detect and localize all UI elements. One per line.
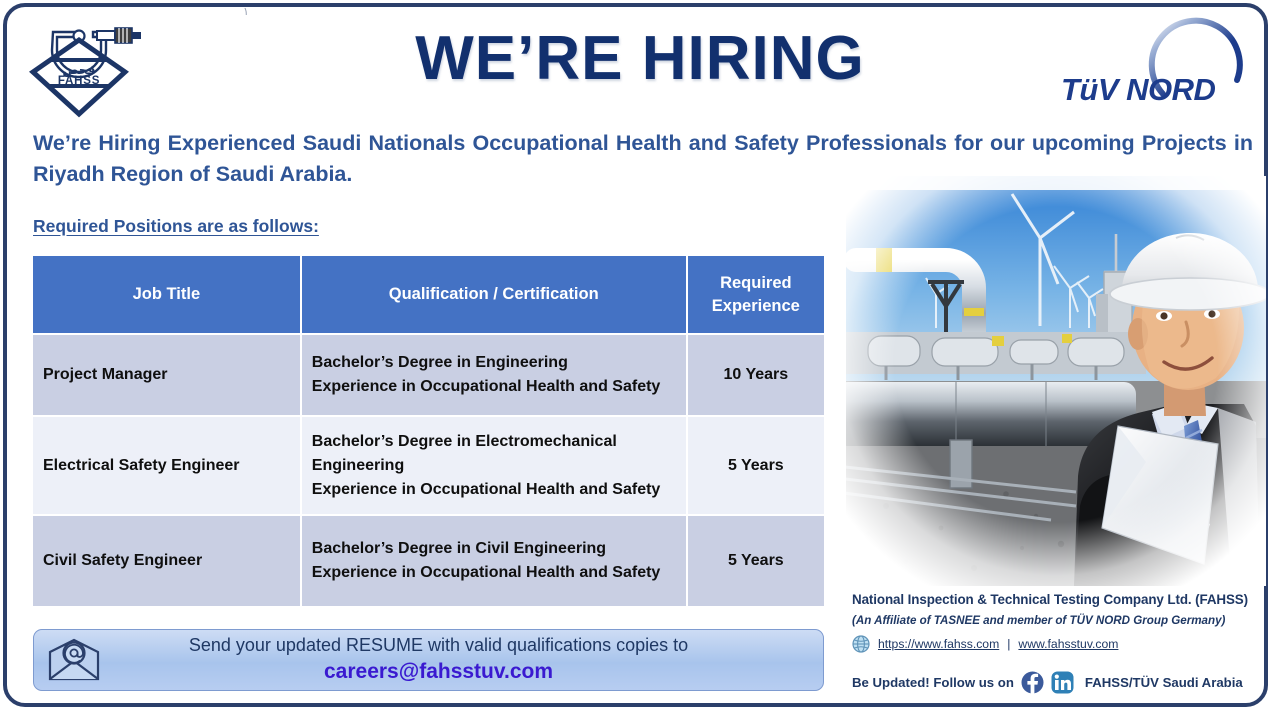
- company-affiliate: (An Affiliate of TASNEE and member of TÜ…: [852, 614, 1264, 627]
- resume-submission-banner[interactable]: Send your updated RESUME with valid qual…: [33, 629, 824, 691]
- company-name: National Inspection & Technical Testing …: [852, 592, 1264, 607]
- link-separator: |: [1007, 637, 1010, 651]
- engineer-industrial-photo: [846, 176, 1266, 586]
- linkedin-icon[interactable]: [1051, 671, 1074, 694]
- qualification-line: Bachelor’s Degree in Civil Engineering: [312, 537, 676, 561]
- envelope-at-icon: [46, 638, 102, 682]
- cell-experience: 10 Years: [688, 335, 824, 415]
- header-job-title: Job Title: [33, 256, 300, 333]
- cell-experience: 5 Years: [688, 417, 824, 514]
- website-link-secondary[interactable]: www.fahsstuv.com: [1018, 637, 1118, 651]
- table-row: Civil Safety Engineer Bachelor’s Degree …: [33, 516, 824, 606]
- qualification-line: Bachelor’s Degree in Electromechanical: [312, 430, 676, 454]
- careers-email-link[interactable]: careers@fahsstuv.com: [102, 658, 775, 686]
- qualification-line: Experience in Occupational Health and Sa…: [312, 561, 676, 585]
- company-footer: National Inspection & Technical Testing …: [852, 592, 1264, 694]
- resume-banner-text: Send your updated RESUME with valid qual…: [102, 634, 823, 685]
- jobs-table: Job Title Qualification / Certification …: [31, 254, 826, 608]
- qualification-line: Experience in Occupational Health and Sa…: [312, 478, 676, 502]
- fahss-logo: فحص FAHSS: [20, 10, 160, 120]
- cell-job-title: Civil Safety Engineer: [33, 516, 300, 606]
- header-qualification: Qualification / Certification: [302, 256, 686, 333]
- cell-qualification: Bachelor’s Degree in Engineering Experie…: [302, 335, 686, 415]
- svg-text:FAHSS: FAHSS: [58, 75, 100, 87]
- cell-experience: 5 Years: [688, 516, 824, 606]
- qualification-line: Engineering: [312, 454, 676, 478]
- table-header-row: Job Title Qualification / Certification …: [33, 256, 824, 333]
- tuv-nord-wordmark: TüV NORD: [1061, 72, 1215, 108]
- globe-icon: [852, 635, 870, 653]
- qualification-line: Bachelor’s Degree in Engineering: [312, 351, 676, 375]
- social-handle: FAHSS/TÜV Saudi Arabia: [1085, 675, 1243, 690]
- resume-instruction: Send your updated RESUME with valid qual…: [102, 634, 775, 658]
- required-positions-label: Required Positions are as follows:: [33, 216, 319, 237]
- facebook-icon[interactable]: [1021, 671, 1044, 694]
- cell-qualification: Bachelor’s Degree in Civil Engineering E…: [302, 516, 686, 606]
- cell-qualification: Bachelor’s Degree in Electromechanical E…: [302, 417, 686, 514]
- header-required-experience: Required Experience: [688, 256, 824, 333]
- website-links-row: https://www.fahss.com | www.fahsstuv.com: [852, 635, 1264, 653]
- page-title: WE’RE HIRING: [330, 26, 950, 91]
- table-row: Project Manager Bachelor’s Degree in Eng…: [33, 335, 824, 415]
- cell-job-title: Electrical Safety Engineer: [33, 417, 300, 514]
- stray-mark: ١: [243, 5, 249, 18]
- tuv-nord-logo: TüV NORD: [1055, 14, 1255, 122]
- table-row: Electrical Safety Engineer Bachelor’s De…: [33, 417, 824, 514]
- qualification-line: Experience in Occupational Health and Sa…: [312, 375, 676, 399]
- cell-job-title: Project Manager: [33, 335, 300, 415]
- follow-us-row: Be Updated! Follow us on FAHSS/TÜV Saudi…: [852, 671, 1264, 694]
- follow-label: Be Updated! Follow us on: [852, 675, 1014, 690]
- hiring-poster: ١ فحص FAHSS WE’RE HIRING: [0, 0, 1271, 710]
- website-link-primary[interactable]: https://www.fahss.com: [878, 637, 999, 651]
